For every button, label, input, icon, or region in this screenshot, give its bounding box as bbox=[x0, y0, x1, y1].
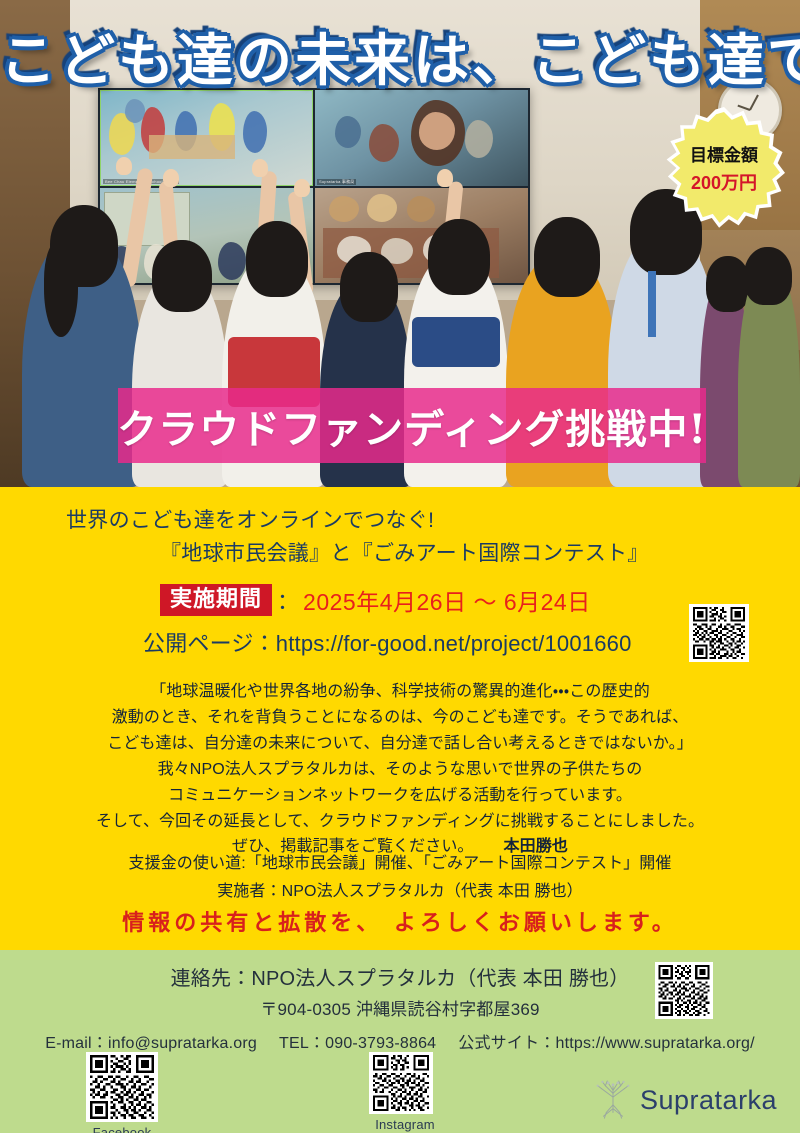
for-good-project-qr-icon[interactable] bbox=[689, 604, 749, 662]
body-line: そして、今回その延長として、クラウドファンディングに挑戦することにしました。 bbox=[0, 809, 800, 835]
child-head bbox=[340, 252, 398, 322]
contact-email[interactable]: E-mail：info@supratarka.org bbox=[45, 1035, 257, 1052]
supratarka-logo: Supratarka bbox=[592, 1080, 777, 1120]
lanyard bbox=[648, 271, 656, 337]
goal-amount-badge: 目標金額 200万円 bbox=[668, 112, 780, 224]
body-message: 「地球温暖化や世界各地の紛争、科学技術の驚異的進化・・・この歴史的 激動のとき、… bbox=[0, 679, 800, 860]
usage-line: 実施者：NPO法人スプラタルカ（代表 本田 勝也） bbox=[0, 878, 800, 906]
contact-tel[interactable]: TEL：090-3793-8864 bbox=[279, 1035, 436, 1052]
period-value: 2025年4月26日 〜 6月24日 bbox=[303, 583, 591, 617]
video-tile: Supratarka 事務局 bbox=[315, 90, 528, 186]
video-tile: Bee Chau Elementary School,Danan bbox=[100, 90, 313, 186]
instagram-qr-icon[interactable] bbox=[369, 1052, 433, 1114]
project-url-label: 公開ページ： bbox=[143, 631, 276, 656]
period-row: 実施期間 ： 2025年4月26日 〜 6月24日 bbox=[160, 583, 591, 617]
raised-hand bbox=[163, 169, 179, 187]
facebook-qr-icon[interactable] bbox=[86, 1052, 158, 1122]
poster-root: Bee Chau Elementary School,Danan Suprata… bbox=[0, 0, 800, 1133]
crowdfunding-banner-text: クラウドファンディング挑戦中! bbox=[117, 397, 707, 455]
child-head bbox=[152, 240, 212, 312]
project-url-link[interactable]: https://for-good.net/project/1001660 bbox=[276, 631, 632, 656]
usage-info: 支援金の使い道:「地球市民会議」開催、「ごみアート国際コンテスト」開催 実施者：… bbox=[0, 850, 800, 907]
adult-head bbox=[744, 247, 792, 305]
body-line: コミュニケーションネットワークを広げる活動を行っています。 bbox=[0, 783, 800, 809]
goal-amount: 200万円 bbox=[691, 169, 757, 195]
raised-hand bbox=[294, 179, 310, 197]
raised-hand bbox=[252, 159, 268, 177]
facebook-qr-block[interactable]: Facebook bbox=[86, 1052, 158, 1133]
goal-label: 目標金額 bbox=[690, 141, 758, 166]
share-request-text: 情報の共有と拡散を、 よろしくお願いします。 bbox=[0, 905, 800, 937]
child-head bbox=[534, 217, 600, 297]
period-label-badge: 実施期間 bbox=[160, 584, 272, 616]
child-shirt bbox=[412, 317, 500, 367]
raised-hand bbox=[116, 157, 132, 175]
body-line: こども達は、自分達の未来について、自分達で話し合い考えるときではないか。」 bbox=[0, 731, 800, 757]
body-line: 「地球温暖化や世界各地の紛争、科学技術の驚異的進化・・・この歴史的 bbox=[0, 679, 800, 705]
child-head bbox=[246, 221, 308, 297]
lead-line-1: 世界のこども達をオンラインでつなぐ! bbox=[66, 504, 434, 534]
instagram-qr-block[interactable]: Instagram bbox=[369, 1052, 441, 1132]
child-hair bbox=[44, 241, 78, 337]
crowdfunding-banner: クラウドファンディング挑戦中! bbox=[118, 388, 706, 463]
body-line: 我々NPO法人スプラタルカは、そのような思いで世界の子供たちの bbox=[0, 757, 800, 783]
official-site-qr-icon[interactable] bbox=[655, 962, 713, 1019]
tree-roots-icon bbox=[592, 1080, 634, 1120]
project-url-row[interactable]: 公開ページ：https://for-good.net/project/10016… bbox=[143, 626, 632, 658]
period-colon: ： bbox=[272, 584, 303, 616]
contact-details: E-mail：info@supratarka.orgTEL：090-3793-8… bbox=[0, 1029, 800, 1053]
body-line: 激動のとき、それを背負うことになるのは、今のこども達です。そうであれば、 bbox=[0, 705, 800, 731]
video-tile-caption: Supratarka 事務局 bbox=[317, 179, 356, 185]
contact-website[interactable]: 公式サイト：https://www.supratarka.org/ bbox=[458, 1035, 754, 1052]
instagram-label: Instagram bbox=[369, 1117, 441, 1132]
supratarka-logo-text: Supratarka bbox=[640, 1085, 777, 1116]
lead-line-2: 『地球市民会議』と『ごみアート国際コンテスト』 bbox=[160, 537, 649, 567]
usage-line: 支援金の使い道:「地球市民会議」開催、「ごみアート国際コンテスト」開催 bbox=[0, 850, 800, 878]
yellow-section: 世界のこども達をオンラインでつなぐ! 『地球市民会議』と『ごみアート国際コンテス… bbox=[0, 487, 800, 950]
child-head bbox=[428, 219, 490, 295]
raised-hand bbox=[437, 169, 453, 187]
facebook-label: Facebook bbox=[86, 1125, 158, 1133]
